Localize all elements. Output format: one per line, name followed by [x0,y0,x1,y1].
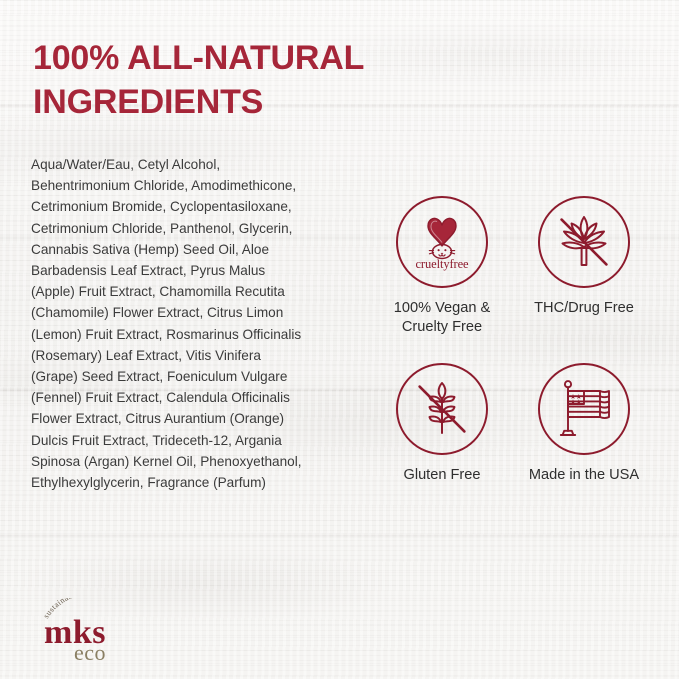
ingredients-list-text: Aqua/Water/Eau, Cetyl Alcohol, Behentrim… [31,154,309,493]
badge-label: Gluten Free [403,466,480,485]
no-cannabis-leaf-icon [548,206,620,278]
badge-thc-drug-free: THC/Drug Free [513,196,655,337]
content-layer: 100% ALL-NATURAL INGREDIENTS Aqua/Water/… [0,0,679,679]
badge-row-bottom: Gluten Free [371,363,655,485]
page-title-line-1: 100% ALL-NATURAL [33,36,453,80]
badge-row-top: crueltyfree 100% Vegan & Cruelty Free [371,196,655,337]
brand-logo: sustainable beauty mks eco [34,598,160,664]
badge-label: 100% Vegan & Cruelty Free [394,299,491,337]
usa-flag-icon [548,373,620,445]
badge-label: Made in the USA [529,466,639,485]
logo-subbrand-text: eco [74,642,106,664]
product-infographic: 100% ALL-NATURAL INGREDIENTS Aqua/Water/… [0,0,679,679]
no-wheat-icon [406,373,478,445]
badge-made-in-usa: Made in the USA [513,363,655,485]
cruelty-free-bunny-heart-icon: crueltyfree [406,206,478,278]
badge-circle [538,363,630,455]
page-title: 100% ALL-NATURAL INGREDIENTS [33,36,453,124]
badge-circle: crueltyfree [396,196,488,288]
cruelty-free-wordmark: crueltyfree [406,257,478,272]
page-title-line-2: INGREDIENTS [33,80,453,124]
badge-gluten-free: Gluten Free [371,363,513,485]
badge-label: THC/Drug Free [534,299,634,318]
badge-row-spacer [371,337,655,363]
badge-vegan-cruelty-free: crueltyfree 100% Vegan & Cruelty Free [371,196,513,337]
badge-circle [538,196,630,288]
badge-circle [396,363,488,455]
certification-badge-grid: crueltyfree 100% Vegan & Cruelty Free [371,196,655,485]
